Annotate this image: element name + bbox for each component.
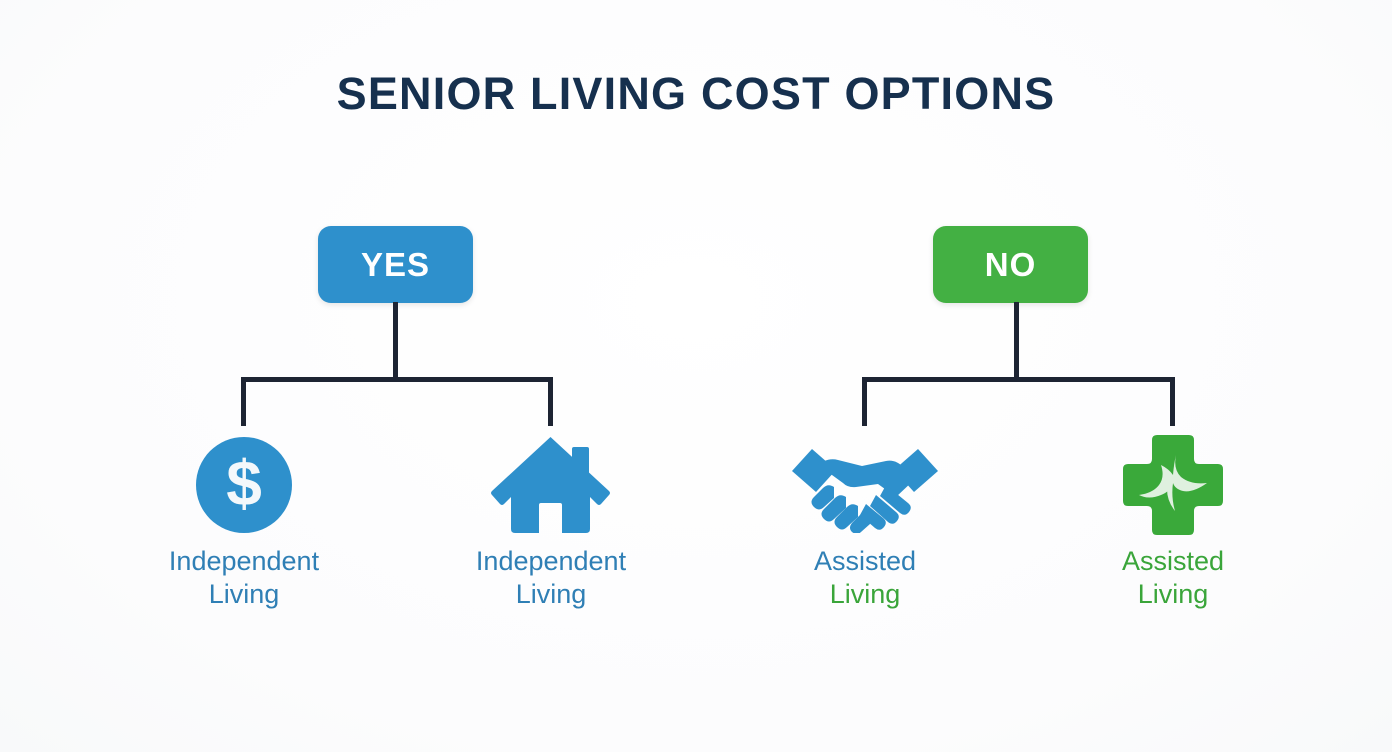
leaf-node-assisted-living-care[interactable]: Assisted Living <box>1063 432 1283 611</box>
connector-no-drop-right <box>1170 377 1175 426</box>
dollar-circle-icon: $ <box>196 437 292 533</box>
handshake-icon <box>790 437 940 533</box>
leaf-label-line2: Living <box>814 578 916 611</box>
decision-box-yes[interactable]: YES <box>318 226 473 303</box>
connector-yes-horizontal <box>241 377 553 382</box>
leaf-label-line2: Living <box>476 578 626 611</box>
connector-no-stem <box>1014 302 1019 382</box>
icon-slot <box>1121 432 1225 537</box>
leaf-label: Assisted Living <box>814 545 916 611</box>
connector-yes-drop-right <box>548 377 553 426</box>
dollar-sign-glyph: $ <box>226 451 262 515</box>
leaf-label: Independent Living <box>476 545 626 611</box>
leaf-label-line1: Assisted <box>814 545 916 578</box>
connector-yes-drop-left <box>241 377 246 426</box>
leaf-label-line2: Living <box>169 578 319 611</box>
icon-slot <box>487 432 615 537</box>
icon-slot: $ <box>196 432 292 537</box>
leaf-label-line1: Independent <box>476 545 626 578</box>
connector-yes-stem <box>393 302 398 382</box>
medical-cross-icon <box>1121 433 1225 537</box>
leaf-node-independent-living-home[interactable]: Independent Living <box>441 432 661 611</box>
icon-slot <box>790 432 940 537</box>
diagram-canvas: SENIOR LIVING COST OPTIONS YES NO $ Inde… <box>0 0 1392 752</box>
leaf-node-assisted-living-partner[interactable]: Assisted Living <box>755 432 975 611</box>
decision-box-no[interactable]: NO <box>933 226 1088 303</box>
connector-no-horizontal <box>862 377 1175 382</box>
house-icon <box>487 433 615 537</box>
leaf-label-line2: Living <box>1122 578 1224 611</box>
page-title: SENIOR LIVING COST OPTIONS <box>0 68 1392 120</box>
leaf-label-line1: Assisted <box>1122 545 1224 578</box>
leaf-node-independent-living-cost[interactable]: $ Independent Living <box>134 432 354 611</box>
leaf-label: Assisted Living <box>1122 545 1224 611</box>
leaf-label-line1: Independent <box>169 545 319 578</box>
connector-no-drop-left <box>862 377 867 426</box>
leaf-label: Independent Living <box>169 545 319 611</box>
